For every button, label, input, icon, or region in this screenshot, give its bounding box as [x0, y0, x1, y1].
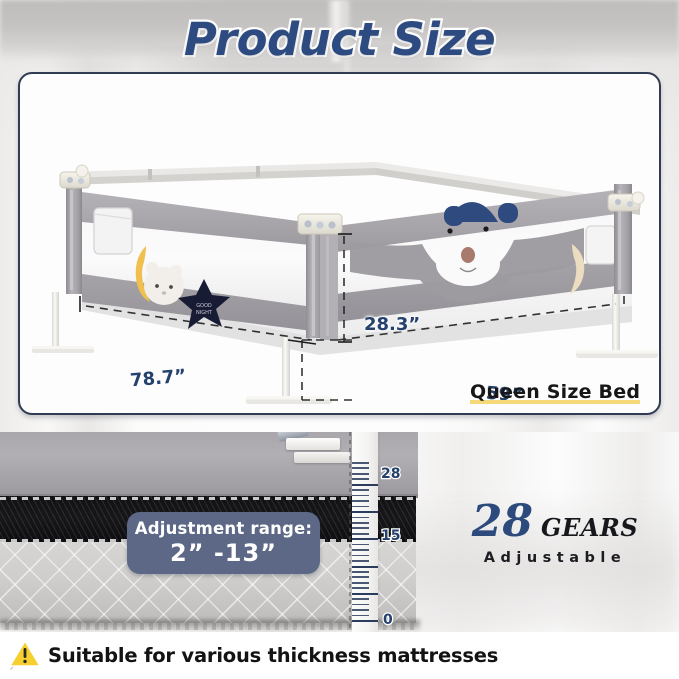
page-title: Product Size — [0, 13, 679, 66]
gears-subtitle: Adjustable — [440, 550, 670, 566]
ruler-label-0: 0 — [383, 612, 393, 628]
bed-size-label: Queen Size Bed — [470, 381, 640, 404]
gears-callout: 28 GEARS Adjustable — [440, 500, 670, 566]
ruler-label-15: 15 — [381, 528, 400, 544]
svg-text:GOOD: GOOD — [196, 303, 212, 309]
dimension-height-label: 28.3” — [364, 314, 420, 335]
warning-triangle-icon — [8, 638, 42, 670]
svg-text:NIGHT: NIGHT — [196, 310, 213, 316]
ruler-label-28: 28 — [381, 466, 400, 482]
hardware-plate-bottom — [294, 452, 350, 463]
product-diagram-card: GOOD NIGHT — [18, 72, 661, 415]
adjustment-range-title: Adjustment range: — [135, 519, 312, 538]
bed-rail-illustration: GOOD NIGHT — [20, 74, 661, 415]
rail-hardware-photo — [286, 432, 356, 466]
ruler-dashed-edge — [349, 432, 351, 632]
adjustment-range-value: 2” -13” — [170, 539, 277, 567]
footer-note-text: Suitable for various thickness mattresse… — [48, 644, 498, 667]
adjustment-range-badge: Adjustment range: 2” -13” — [127, 512, 320, 574]
footer-note-bar: Suitable for various thickness mattresse… — [0, 632, 679, 679]
infographic-root: Product Size — [0, 0, 679, 679]
measurement-ruler — [352, 432, 378, 632]
gears-word: GEARS — [541, 513, 638, 542]
gears-count: 28 — [472, 500, 533, 544]
hardware-plate-top — [286, 438, 340, 450]
gears-headline: 28 GEARS — [440, 500, 670, 544]
